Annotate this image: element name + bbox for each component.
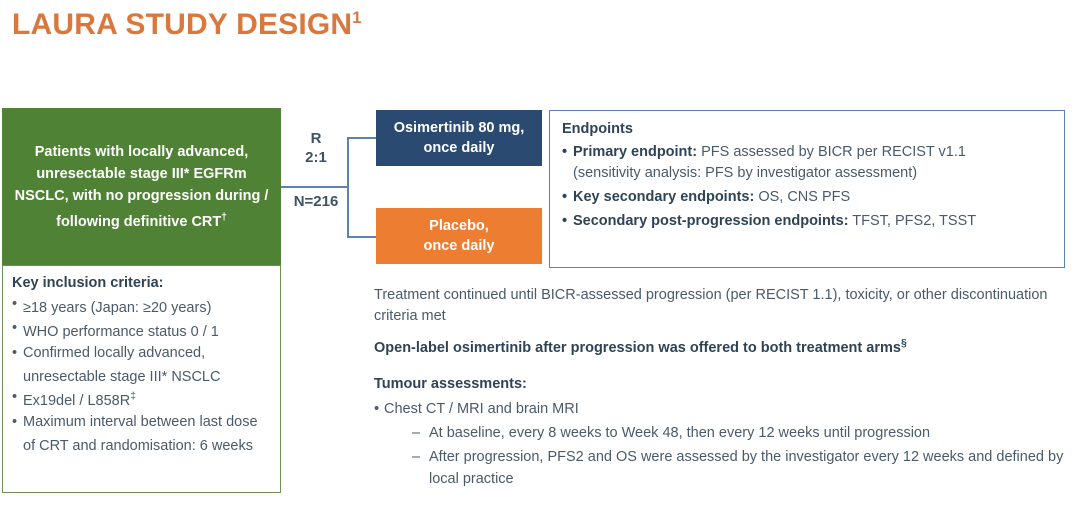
narrative-section: Treatment continued until BICR-assessed … bbox=[374, 285, 1074, 490]
list-item: – After progression, PFS2 and OS were as… bbox=[412, 447, 1074, 490]
inclusion-criteria-item-4: Maximum interval between last dose of CR… bbox=[23, 412, 272, 457]
inclusion-criteria-item-3: Ex19del / L858R‡ bbox=[23, 387, 272, 411]
list-item: • ≥18 years (Japan: ≥20 years) bbox=[12, 294, 272, 318]
randomisation-r: R bbox=[292, 129, 340, 148]
patient-population-text: Patients with locally advanced, unresect… bbox=[2, 141, 281, 233]
bullet-icon: • bbox=[12, 294, 23, 318]
tumour-assessment-main-item: Chest CT / MRI and brain MRI bbox=[384, 399, 1074, 420]
page-title-superscript: 1 bbox=[352, 9, 361, 27]
randomisation-sample-size: N=216 bbox=[286, 193, 346, 210]
treatment-arm-osimertinib-line2: once daily bbox=[394, 138, 525, 158]
bullet-icon: • bbox=[562, 211, 573, 232]
endpoint-key-secondary-value: OS, CNS PFS bbox=[754, 189, 850, 205]
connector-branch-top bbox=[347, 137, 376, 139]
inclusion-criteria-item-3-superscript: ‡ bbox=[130, 391, 136, 402]
inclusion-criteria-item-4-text: Maximum interval between last dose of CR… bbox=[23, 414, 258, 454]
tumour-assessments-heading: Tumour assessments: bbox=[374, 374, 1074, 395]
treatment-arm-osimertinib-line1: Osimertinib 80 mg, bbox=[394, 118, 525, 138]
page-title: LAURA STUDY DESIGN1 bbox=[12, 8, 362, 42]
bullet-icon: • bbox=[374, 399, 384, 420]
list-item: • Maximum interval between last dose of … bbox=[12, 412, 272, 457]
tumour-assessment-sub-item-0: At baseline, every 8 weeks to Week 48, t… bbox=[429, 423, 1074, 445]
list-item: • Secondary post-progression endpoints: … bbox=[562, 211, 1054, 232]
inclusion-criteria-box: Key inclusion criteria: • ≥18 years (Jap… bbox=[2, 265, 281, 493]
inclusion-criteria-item-0: ≥18 years (Japan: ≥20 years) bbox=[23, 294, 272, 318]
tumour-assessment-sub-item-1: After progression, PFS2 and OS were asse… bbox=[429, 447, 1074, 490]
dash-icon: – bbox=[412, 447, 429, 490]
dash-icon: – bbox=[412, 423, 429, 445]
bullet-icon: • bbox=[562, 187, 573, 208]
inclusion-criteria-heading: Key inclusion criteria: bbox=[12, 273, 272, 293]
randomisation-ratio: 2:1 bbox=[292, 148, 340, 167]
endpoint-secondary-post-progression-label: Secondary post-progression endpoints: bbox=[573, 213, 849, 229]
endpoint-key-secondary: Key secondary endpoints: OS, CNS PFS bbox=[573, 187, 1054, 208]
treatment-continuation-text: Treatment continued until BICR-assessed … bbox=[374, 285, 1074, 327]
treatment-arm-placebo-line1: Placebo, bbox=[424, 216, 495, 236]
list-item: • Chest CT / MRI and brain MRI bbox=[374, 399, 1074, 420]
inclusion-criteria-item-1-text: WHO performance status 0 / 1 bbox=[23, 324, 219, 340]
connector-stem bbox=[281, 186, 348, 188]
randomisation-label: R 2:1 bbox=[292, 129, 340, 167]
treatment-arm-placebo-text: Placebo, once daily bbox=[424, 216, 495, 256]
endpoint-primary-subline: (sensitivity analysis: PFS by investigat… bbox=[573, 163, 1054, 184]
connector-branch-bottom bbox=[347, 236, 376, 238]
treatment-arm-placebo: Placebo, once daily bbox=[376, 208, 542, 264]
inclusion-criteria-item-3-text: Ex19del / L858R bbox=[23, 393, 130, 409]
bullet-icon: • bbox=[12, 318, 23, 342]
slide-canvas: LAURA STUDY DESIGN1 Patients with locall… bbox=[0, 0, 1080, 516]
endpoints-heading: Endpoints bbox=[562, 119, 1054, 140]
patient-population-box: Patients with locally advanced, unresect… bbox=[2, 108, 281, 265]
endpoint-primary-value: PFS assessed by BICR per RECIST v1.1 bbox=[697, 144, 966, 160]
list-item: • Ex19del / L858R‡ bbox=[12, 387, 272, 411]
connector-vertical bbox=[347, 137, 349, 237]
treatment-arm-placebo-line2: once daily bbox=[424, 236, 495, 256]
treatment-arm-osimertinib: Osimertinib 80 mg, once daily bbox=[376, 110, 542, 166]
patient-population-superscript: † bbox=[221, 212, 227, 223]
list-item: • Confirmed locally advanced, unresectab… bbox=[12, 343, 272, 388]
bullet-icon: • bbox=[12, 412, 23, 457]
inclusion-criteria-item-2-text: Confirmed locally advanced, unresectable… bbox=[23, 345, 220, 385]
open-label-text: Open-label osimertinib after progression… bbox=[374, 333, 1074, 359]
inclusion-criteria-item-0-text: ≥18 years (Japan: ≥20 years) bbox=[23, 300, 211, 316]
bullet-icon: • bbox=[562, 142, 573, 184]
endpoints-box: Endpoints • Primary endpoint: PFS assess… bbox=[549, 110, 1065, 268]
list-item: • WHO performance status 0 / 1 bbox=[12, 318, 272, 342]
endpoint-primary-label: Primary endpoint: bbox=[573, 144, 697, 160]
list-item: • Primary endpoint: PFS assessed by BICR… bbox=[562, 142, 1054, 184]
inclusion-criteria-item-1: WHO performance status 0 / 1 bbox=[23, 318, 272, 342]
bullet-icon: • bbox=[12, 387, 23, 411]
bullet-icon: • bbox=[12, 343, 23, 388]
patient-population-label: Patients with locally advanced, unresect… bbox=[15, 144, 269, 230]
list-item: – At baseline, every 8 weeks to Week 48,… bbox=[412, 423, 1074, 445]
endpoint-key-secondary-label: Key secondary endpoints: bbox=[573, 189, 754, 205]
page-title-text: LAURA STUDY DESIGN bbox=[12, 8, 352, 41]
open-label-superscript: § bbox=[901, 338, 907, 349]
open-label-label: Open-label osimertinib after progression… bbox=[374, 340, 901, 356]
treatment-arm-osimertinib-text: Osimertinib 80 mg, once daily bbox=[394, 118, 525, 158]
endpoint-primary: Primary endpoint: PFS assessed by BICR p… bbox=[573, 142, 1054, 184]
list-item: • Key secondary endpoints: OS, CNS PFS bbox=[562, 187, 1054, 208]
inclusion-criteria-item-2: Confirmed locally advanced, unresectable… bbox=[23, 343, 272, 388]
endpoint-secondary-post-progression-value: TFST, PFS2, TSST bbox=[849, 213, 977, 229]
endpoint-secondary-post-progression: Secondary post-progression endpoints: TF… bbox=[573, 211, 1054, 232]
